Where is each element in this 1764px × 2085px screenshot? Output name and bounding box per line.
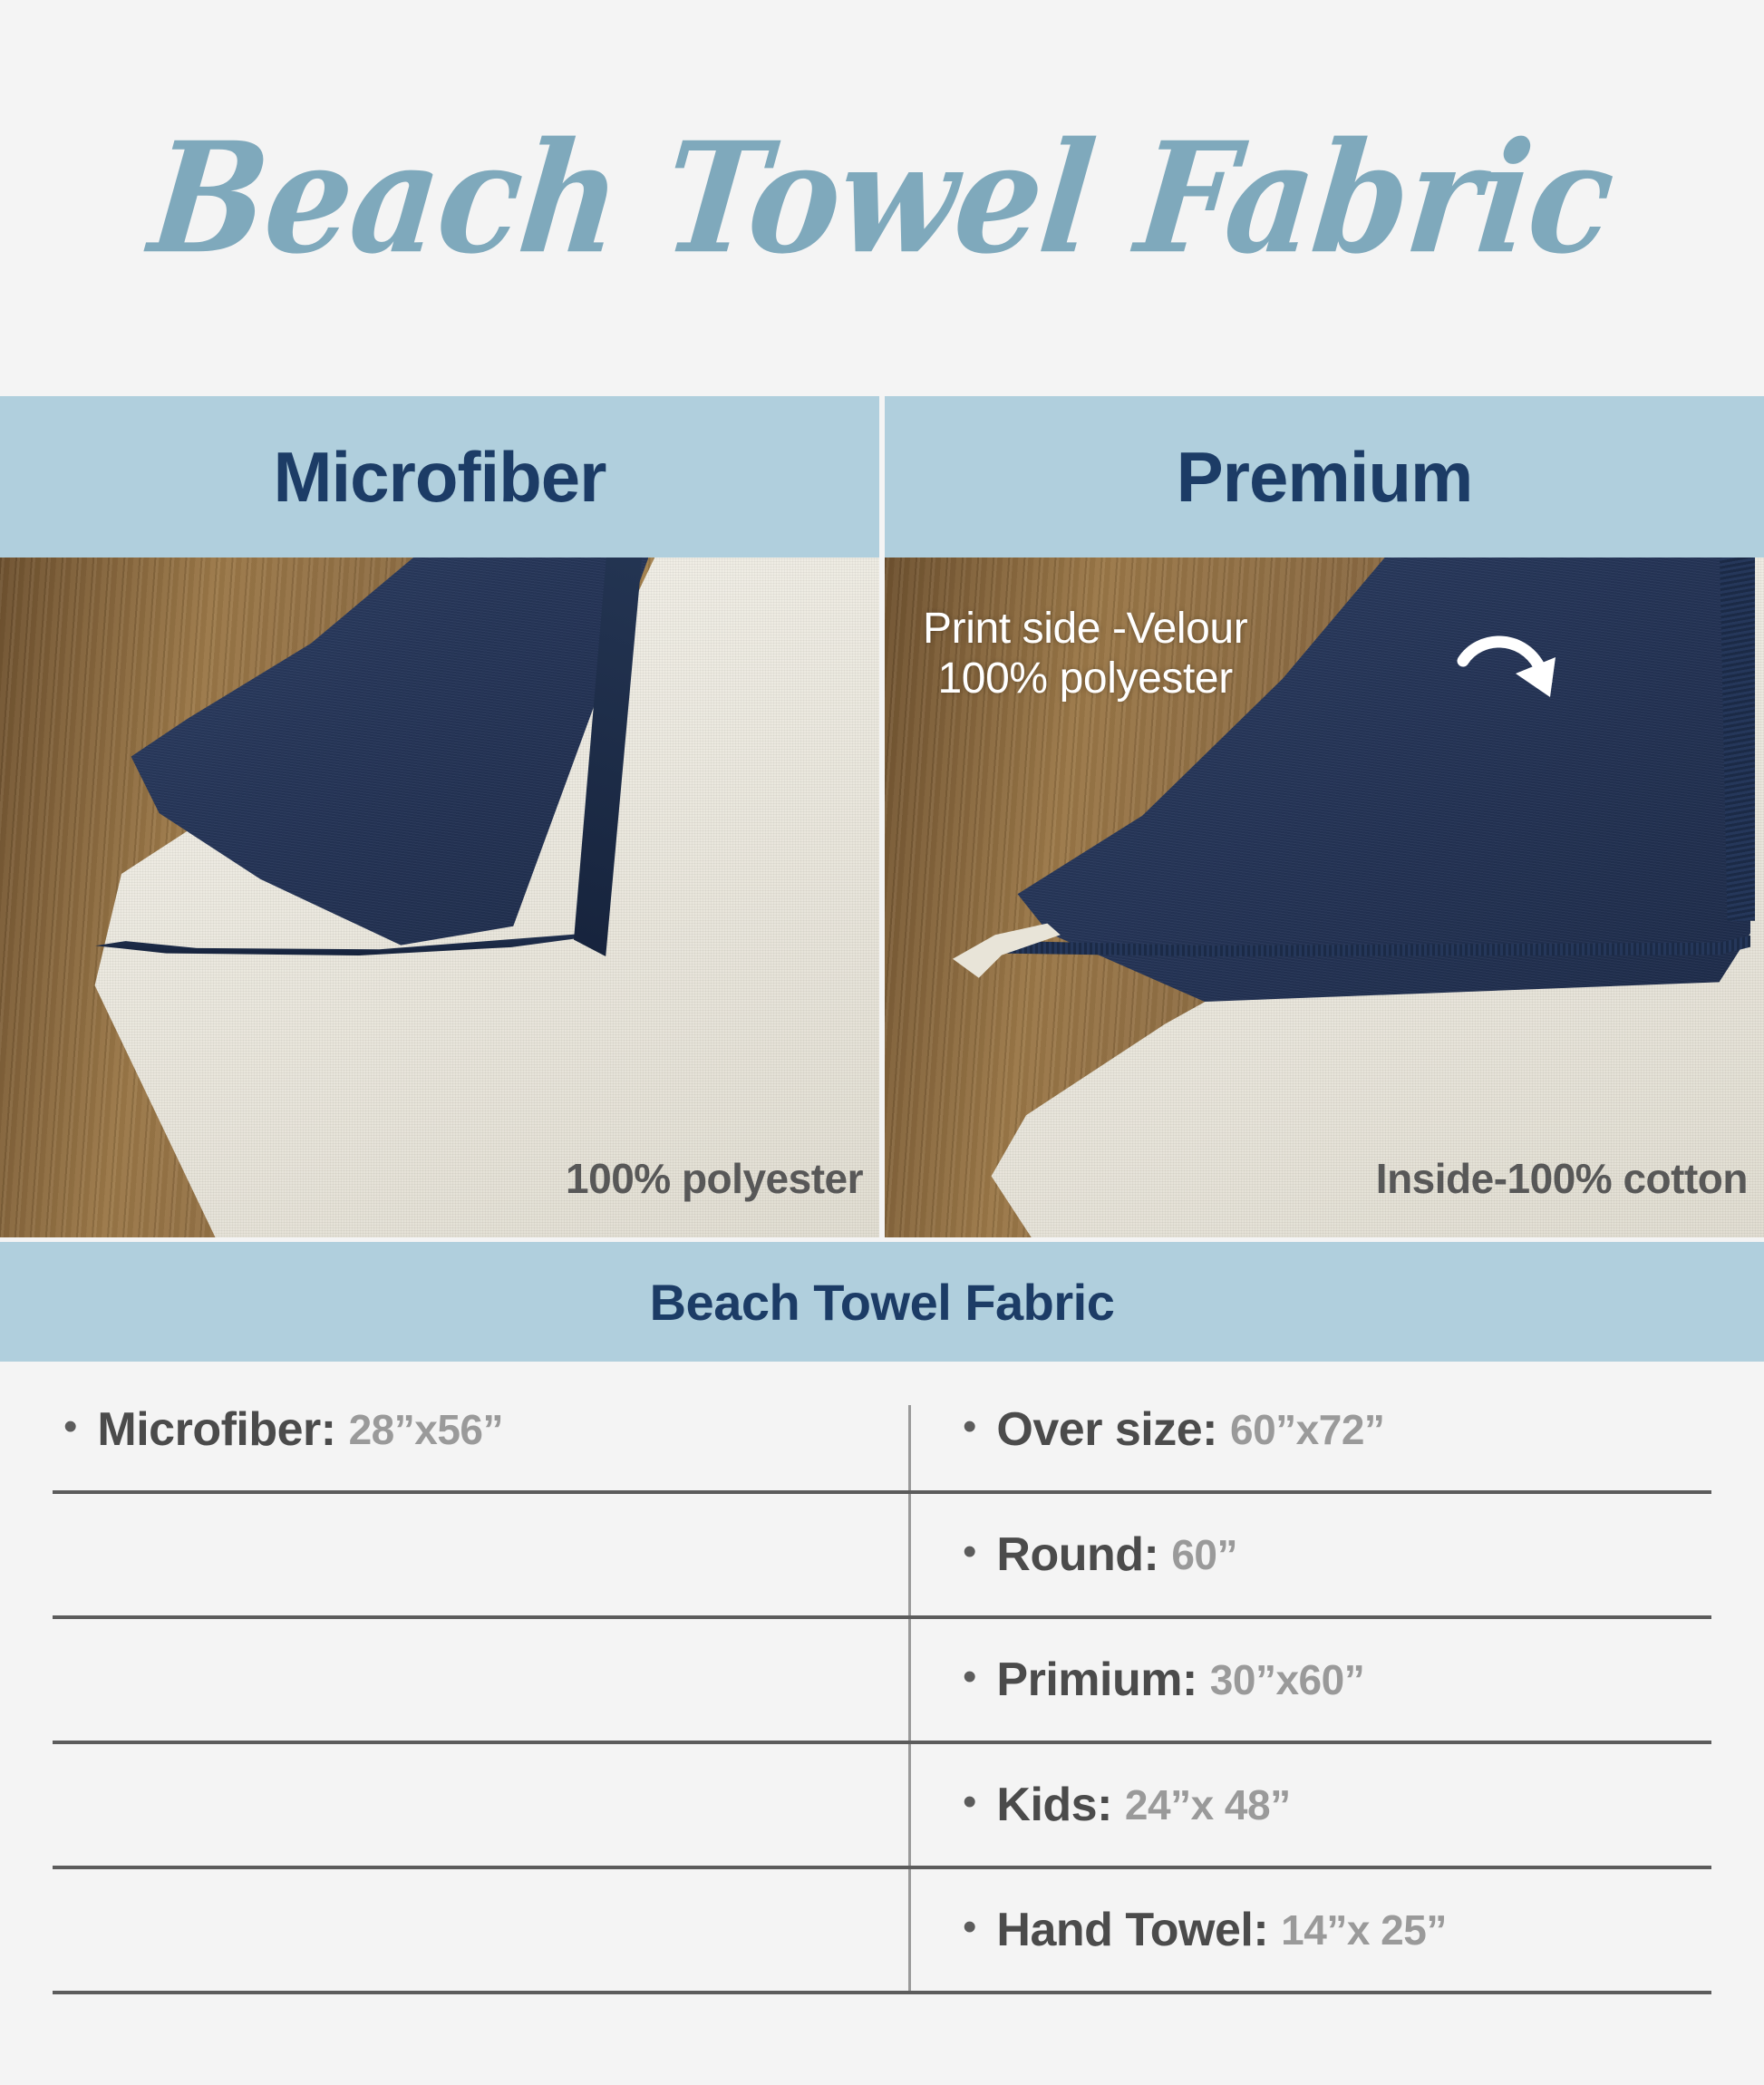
photo-premium: Print side -Velour 100% polyester Inside… xyxy=(885,558,1764,1237)
spec-label: Primium: xyxy=(996,1653,1197,1707)
spec-label: Kids: xyxy=(996,1778,1112,1832)
compare-column-microfiber: Microfiber 100% polyester xyxy=(0,396,879,1237)
spec-cell-right: • Primium: 30”x60” xyxy=(908,1619,1764,1741)
spec-label: Over size: xyxy=(996,1402,1217,1457)
bullet-icon: • xyxy=(963,1407,976,1447)
section-heading-bar: Beach Towel Fabric xyxy=(0,1242,1764,1362)
table-row: • • Kids: 24”x 48” xyxy=(53,1744,1711,1869)
spec-cell-right: • Over size: 60”x72” xyxy=(908,1369,1764,1490)
photo-caption-microfiber: 100% polyester xyxy=(566,1154,863,1203)
spec-value: 24”x 48” xyxy=(1125,1780,1291,1829)
column-header-premium: Premium xyxy=(885,396,1764,558)
bullet-icon: • xyxy=(963,1532,976,1572)
spec-cell-left: • xyxy=(53,1744,908,1866)
spec-cell-left: • xyxy=(53,1494,908,1615)
section-heading-label: Beach Towel Fabric xyxy=(650,1273,1115,1332)
spec-value: 14”x 25” xyxy=(1281,1906,1447,1954)
spec-value: 60” xyxy=(1171,1530,1237,1579)
spec-value: 28”x56” xyxy=(349,1405,503,1454)
spec-label: Hand Towel: xyxy=(996,1903,1268,1957)
table-row: • • Hand Towel: 14”x 25” xyxy=(53,1869,1711,1994)
column-header-label: Microfiber xyxy=(273,436,606,519)
table-row: • • Round: 60” xyxy=(53,1494,1711,1619)
title-banner: Beach Towel Fabric xyxy=(0,0,1764,396)
bullet-icon: • xyxy=(963,1907,976,1947)
photo-microfiber: 100% polyester xyxy=(0,558,879,1237)
spec-cell-left: • xyxy=(53,1619,908,1741)
table-row: • • Primium: 30”x60” xyxy=(53,1619,1711,1744)
spec-cell-left: • Microfiber: 28”x56” xyxy=(53,1369,908,1490)
bullet-icon: • xyxy=(963,1657,976,1697)
print-side-note: Print side -Velour 100% polyester xyxy=(923,605,1247,703)
page-title: Beach Towel Fabric xyxy=(144,122,1620,275)
spec-cell-right: • Hand Towel: 14”x 25” xyxy=(908,1869,1764,1991)
fabric-comparison: Microfiber 100% polyester Premium xyxy=(0,396,1764,1237)
compare-column-premium: Premium Print side -Velour 100% polyeste… xyxy=(885,396,1764,1237)
spec-value: 30”x60” xyxy=(1210,1655,1364,1704)
size-spec-table: • Microfiber: 28”x56” • Over size: 60”x7… xyxy=(0,1362,1764,1994)
spec-label: Microfiber: xyxy=(97,1402,335,1457)
table-row: • Microfiber: 28”x56” • Over size: 60”x7… xyxy=(53,1369,1711,1494)
column-header-label: Premium xyxy=(1177,436,1473,519)
photo-caption-premium: Inside-100% cotton xyxy=(1376,1154,1748,1203)
spec-cell-left: • xyxy=(53,1869,908,1991)
spec-cell-right: • Kids: 24”x 48” xyxy=(908,1744,1764,1866)
column-header-microfiber: Microfiber xyxy=(0,396,879,558)
spec-value: 60”x72” xyxy=(1230,1405,1384,1454)
curved-arrow-down-right-icon xyxy=(1456,619,1574,719)
bullet-icon: • xyxy=(63,1407,77,1447)
spec-label: Round: xyxy=(996,1527,1158,1582)
spec-cell-right: • Round: 60” xyxy=(908,1494,1764,1615)
bullet-icon: • xyxy=(963,1782,976,1822)
